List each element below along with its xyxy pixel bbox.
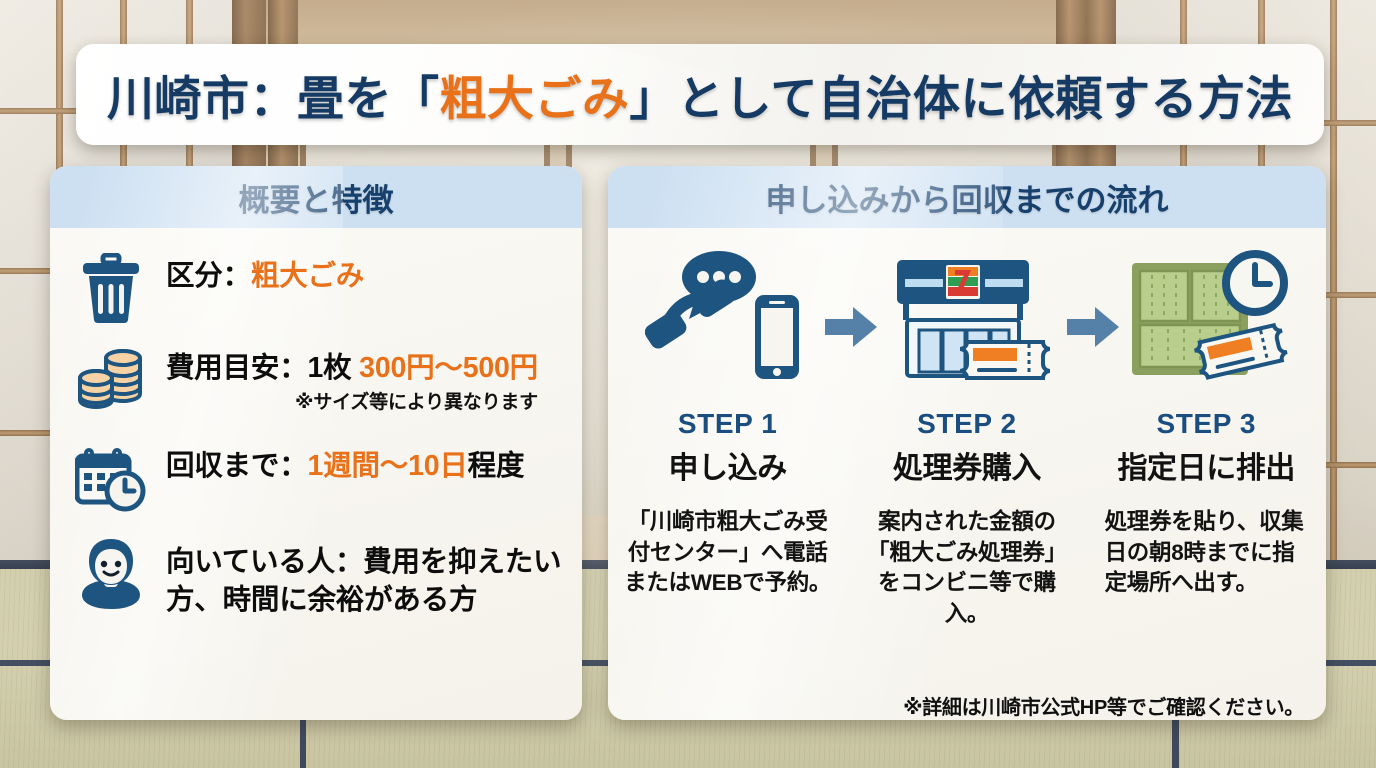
coins-icon <box>72 338 150 422</box>
flow-icon-row <box>608 242 1326 392</box>
step-list: STEP 1 申し込み 「川崎市粗大ごみ受付センター」へ電話またはWEBで予約。… <box>608 408 1326 629</box>
step-description: 処理券を貼り、収集日の朝8時までに指定場所へ出す。 <box>1099 507 1314 599</box>
flow-panel: 申し込みから回収までの流れ <box>608 166 1326 720</box>
list-item: 区分：粗大ごみ <box>72 246 564 330</box>
step-item: STEP 3 指定日に排出 処理券を貼り、収集日の朝8時までに指定場所へ出す。 <box>1087 408 1326 629</box>
overview-panel-title: 概要と特徴 <box>239 175 394 220</box>
feature-label: 区分： <box>166 260 251 292</box>
title-suffix: 」として自治体に依頼する方法 <box>629 72 1293 125</box>
flow-panel-body: STEP 1 申し込み 「川崎市粗大ごみ受付センター」へ電話またはWEBで予約。… <box>608 242 1326 720</box>
title-highlight: 粗大ごみ <box>439 72 629 125</box>
list-item: 回収まで：1週間〜10日程度 <box>72 436 564 520</box>
step-title: 処理券購入 <box>859 443 1074 487</box>
list-item-text: 区分：粗大ごみ <box>166 246 364 296</box>
flow-panel-title: 申し込みから回収までの流れ <box>766 175 1169 220</box>
flow-footnote: ※詳細は川崎市公式HP等でご確認ください。 <box>903 691 1304 720</box>
overview-panel: 概要と特徴 区分：粗大ごみ <box>50 166 582 720</box>
step-item: STEP 1 申し込み 「川崎市粗大ごみ受付センター」へ電話またはWEBで予約。 <box>608 408 847 629</box>
convenience-store-icon <box>872 242 1062 392</box>
list-item-text: 回収まで：1週間〜10日程度 <box>166 436 524 486</box>
feature-suffix: 程度 <box>468 450 525 482</box>
step-description: 「川崎市粗大ごみ受付センター」へ電話またはWEBで予約。 <box>620 507 835 599</box>
step-number: STEP 2 <box>859 408 1074 440</box>
feature-value: 粗大ごみ <box>251 260 364 292</box>
step-number: STEP 1 <box>620 408 835 440</box>
infographic-root: 川崎市：畳を「粗大ごみ」として自治体に依頼する方法 概要と特徴 <box>0 0 1376 768</box>
step-title: 申し込み <box>620 443 835 487</box>
title-prefix: 川崎市：畳を「 <box>107 72 440 125</box>
calendar-clock-icon <box>72 436 150 520</box>
feature-value: 1週間〜10日 <box>308 450 468 482</box>
overview-panel-header: 概要と特徴 <box>50 166 582 228</box>
person-icon <box>72 532 150 616</box>
step-item: STEP 2 処理券購入 案内された金額の「粗大ごみ処理券」をコンビニ等で購入。 <box>847 408 1086 629</box>
page-title: 川崎市：畳を「粗大ごみ」として自治体に依頼する方法 <box>107 60 1293 129</box>
flow-panel-header: 申し込みから回収までの流れ <box>608 166 1326 228</box>
feature-value: 300円〜500円 <box>359 352 538 384</box>
feature-label: 費用目安：1枚 <box>166 352 359 384</box>
phone-call-icon <box>630 242 820 392</box>
list-item: 費用目安：1枚 300円〜500円 ※サイズ等により異なります <box>72 338 564 422</box>
step-description: 案内された金額の「粗大ごみ処理券」をコンビニ等で購入。 <box>859 507 1074 629</box>
tatami-clock-icon <box>1113 242 1303 392</box>
list-item: 向いている人：費用を抑えたい方、時間に余裕がある方 <box>72 532 564 619</box>
overview-panel-body: 区分：粗大ごみ <box>50 228 582 619</box>
feature-note: ※サイズ等により異なります <box>166 390 538 415</box>
list-item-text: 費用目安：1枚 300円〜500円 ※サイズ等により異なります <box>166 338 538 415</box>
feature-list: 区分：粗大ごみ <box>50 228 582 619</box>
list-item-text: 向いている人：費用を抑えたい方、時間に余裕がある方 <box>166 532 564 619</box>
feature-label: 回収まで： <box>166 450 308 482</box>
trash-can-icon <box>72 246 150 330</box>
step-number: STEP 3 <box>1099 408 1314 440</box>
title-banner: 川崎市：畳を「粗大ごみ」として自治体に依頼する方法 <box>76 44 1324 145</box>
step-title: 指定日に排出 <box>1099 443 1314 487</box>
